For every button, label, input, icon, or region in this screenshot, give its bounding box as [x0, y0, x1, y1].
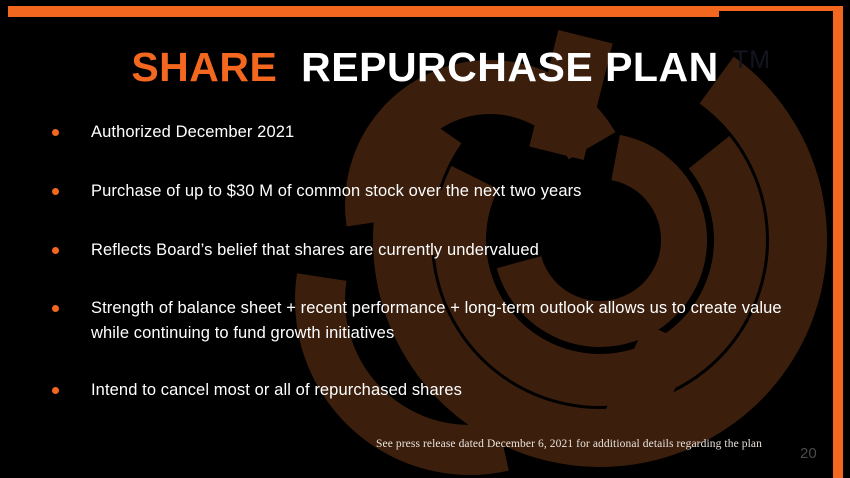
title-main-words: REPURCHASE PLAN	[301, 44, 719, 90]
frame-top-right-stub	[719, 6, 843, 11]
list-item-label: Authorized December 2021	[91, 120, 294, 145]
list-item-label: Intend to cancel most or all of repurcha…	[91, 378, 462, 403]
bullet-dot-icon	[52, 129, 59, 136]
list-item-label: Reflects Board’s belief that shares are …	[91, 238, 539, 263]
presentation-slide: SHARE REPURCHASE PLAN TM Authorized Dece…	[0, 0, 850, 478]
bullet-dot-icon	[52, 188, 59, 195]
list-item: Authorized December 2021	[52, 120, 792, 145]
footnote-text: See press release dated December 6, 2021…	[376, 438, 762, 450]
list-item: Reflects Board’s belief that shares are …	[52, 238, 792, 263]
trademark-mark: TM	[733, 46, 771, 75]
slide-title: SHARE REPURCHASE PLAN	[0, 44, 850, 91]
bullet-dot-icon	[52, 387, 59, 394]
frame-top-bar	[8, 6, 719, 17]
bullet-dot-icon	[52, 305, 59, 312]
list-item: Intend to cancel most or all of repurcha…	[52, 378, 792, 403]
list-item: Purchase of up to $30 M of common stock …	[52, 179, 792, 204]
list-item-label: Strength of balance sheet + recent perfo…	[91, 296, 783, 346]
list-item: Strength of balance sheet + recent perfo…	[52, 296, 792, 346]
bullet-dot-icon	[52, 247, 59, 254]
page-number: 20	[800, 445, 817, 462]
title-accent-word: SHARE	[131, 44, 277, 90]
list-item-label: Purchase of up to $30 M of common stock …	[91, 179, 582, 204]
